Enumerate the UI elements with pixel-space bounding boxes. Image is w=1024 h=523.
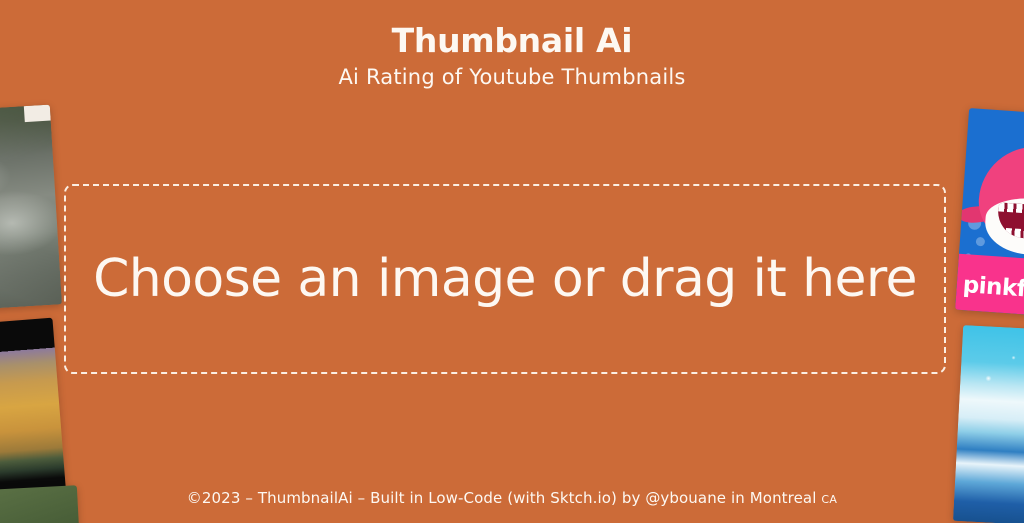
shark-body-shape: [976, 143, 1024, 254]
pinkfong-wordmark: pinkf: [962, 272, 1024, 302]
bubble-icon: [976, 237, 986, 247]
shark-teeth-shape: [998, 202, 1024, 216]
image-dropzone[interactable]: Choose an image or drag it here: [64, 184, 946, 374]
shark-teeth-shape: [996, 227, 1024, 241]
footer-copyright: ©2023: [187, 489, 241, 507]
page-footer: ©2023 – ThumbnailAi – Built in Low-Code …: [0, 489, 1024, 507]
shark-fin-shape: [957, 205, 992, 224]
bubble-icon: [968, 216, 982, 230]
footer-author-link[interactable]: @ybouane: [645, 489, 726, 507]
footer-built-with: Built in Low-Code (with Sktch.io) by: [370, 489, 640, 507]
rock-aerial-thumbnail: [0, 105, 62, 312]
pinkfong-baby-shark-thumbnail: pinkf: [955, 108, 1024, 318]
pinkfong-band: [955, 254, 1024, 318]
page-title: Thumbnail Ai: [0, 24, 1024, 59]
footer-region: CA: [821, 493, 837, 506]
bubble-icon: [965, 253, 972, 260]
page-subtitle: Ai Rating of Youtube Thumbnails: [0, 65, 1024, 89]
page-header: Thumbnail Ai Ai Rating of Youtube Thumbn…: [0, 0, 1024, 89]
footer-separator: –: [358, 489, 366, 507]
footer-location: in Montreal: [731, 489, 816, 507]
footer-separator: –: [245, 489, 253, 507]
shark-mouth-shape: [996, 202, 1024, 241]
dropzone-label: Choose an image or drag it here: [93, 249, 917, 309]
autumn-field-thumbnail: [0, 318, 67, 517]
shark-belly-shape: [983, 196, 1024, 259]
footer-product-name: ThumbnailAi: [258, 489, 353, 507]
